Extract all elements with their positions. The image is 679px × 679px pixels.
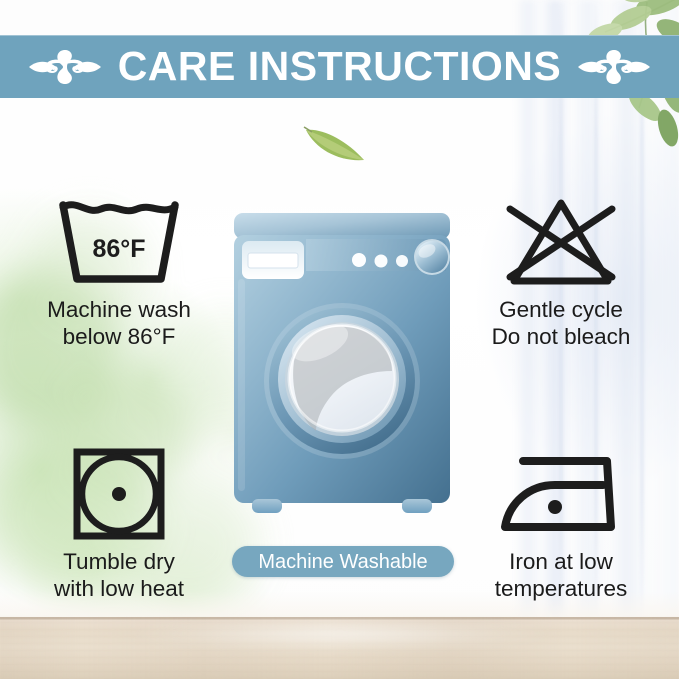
tumble-dry-icon: [71, 446, 167, 542]
machine-detergent-drawer: [242, 241, 304, 279]
fleur-de-lis-left-icon: [28, 46, 102, 88]
care-symbol-tumble-dry: Tumble dry with low heat: [4, 444, 234, 603]
triangle-crossed-icon-wrapper: [446, 192, 676, 292]
care-symbol-machine-wash: 86°F Machine wash below 86°F: [4, 192, 234, 351]
washing-machine-illustration: [228, 209, 456, 529]
care-symbol-caption: Tumble dry with low heat: [4, 548, 234, 603]
header-banner: CARE INSTRUCTIONS: [0, 35, 679, 98]
machine-selector-knob: [414, 239, 450, 275]
machine-indicator-dot: [352, 253, 366, 267]
machine-washable-badge: Machine Washable: [232, 546, 454, 577]
machine-foot: [252, 499, 282, 513]
care-instructions-graphic: CARE INSTRUCTIONS 86°F Machine wash belo…: [0, 0, 679, 679]
iron-icon: [499, 451, 623, 537]
wash-temperature-label: 86°F: [92, 235, 145, 263]
care-symbol-iron-low: Iron at low temperatures: [446, 444, 676, 603]
care-symbol-do-not-bleach: Gentle cycle Do not bleach: [446, 192, 676, 351]
machine-indicator-dot: [396, 255, 408, 267]
machine-indicator-dot: [375, 255, 388, 268]
machine-door: [264, 303, 420, 459]
triangle-crossed-icon: [502, 195, 620, 289]
tumble-dry-icon-wrapper: [4, 444, 234, 544]
floating-leaf-icon: [302, 118, 372, 166]
care-symbol-caption: Iron at low temperatures: [446, 548, 676, 603]
wood-surface: [0, 617, 679, 679]
machine-foot: [402, 499, 432, 513]
wash-tub-icon: 86°F: [55, 195, 183, 289]
wood-highlight: [120, 621, 560, 647]
care-symbol-caption: Gentle cycle Do not bleach: [446, 296, 676, 351]
care-symbol-caption: Machine wash below 86°F: [4, 296, 234, 351]
fleur-de-lis-right-icon: [577, 46, 651, 88]
wash-tub-icon-wrapper: 86°F: [4, 192, 234, 292]
machine-washable-badge-label: Machine Washable: [258, 552, 427, 572]
iron-icon-wrapper: [446, 444, 676, 544]
page-title: CARE INSTRUCTIONS: [118, 46, 562, 87]
